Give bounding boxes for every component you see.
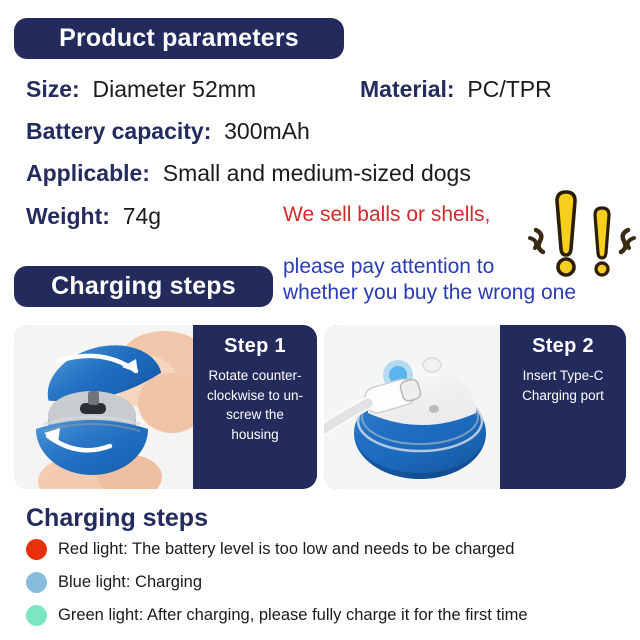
warning-blue-line-2: whether you buy the wrong one bbox=[283, 280, 576, 306]
spec-key-applicable: Applicable: bbox=[26, 160, 156, 186]
spec-value-battery-capacity: 300mAh bbox=[224, 118, 310, 144]
step-2-photo bbox=[324, 325, 500, 489]
warning-blue-line-1: please pay attention to bbox=[283, 254, 576, 280]
step-1-text: Step 1 Rotate counter-clockwise to un-sc… bbox=[193, 325, 317, 489]
spec-value-weight: 74g bbox=[123, 203, 161, 229]
step-card-2: Step 2 Insert Type-C Charging port bbox=[324, 325, 626, 489]
spec-value-size: Diameter 52mm bbox=[92, 76, 256, 102]
spec-key-weight: Weight: bbox=[26, 203, 116, 229]
spec-row-applicable: Applicable: Small and medium-sized dogs bbox=[26, 162, 471, 185]
legend-row-red-light: Red light: The battery level is too low … bbox=[26, 539, 514, 560]
charging-steps-heading: Charging steps bbox=[14, 266, 273, 307]
red-light-indicator-icon bbox=[26, 539, 47, 560]
spec-key-battery-capacity: Battery capacity: bbox=[26, 118, 218, 144]
spec-row-weight: Weight: 74g bbox=[26, 205, 161, 228]
spec-row-battery-capacity: Battery capacity: 300mAh bbox=[26, 120, 310, 143]
spec-key-size: Size: bbox=[26, 76, 86, 102]
legend-row-blue-light: Blue light: Charging bbox=[26, 572, 202, 593]
spec-value-applicable: Small and medium-sized dogs bbox=[163, 160, 471, 186]
spec-row-material: Material: PC/TPR bbox=[360, 78, 552, 101]
green-light-indicator-icon bbox=[26, 605, 47, 626]
step-1-photo bbox=[14, 325, 193, 489]
step-2-description: Insert Type-C Charging port bbox=[508, 366, 618, 405]
legend-heading: Charging steps bbox=[26, 504, 208, 533]
legend-label-green-light: Green light: After charging, please full… bbox=[58, 606, 528, 625]
warning-red-text: We sell balls or shells, bbox=[283, 203, 490, 227]
warning-blue-text: please pay attention to whether you buy … bbox=[283, 254, 576, 306]
product-parameters-heading: Product parameters bbox=[14, 18, 344, 59]
spec-key-material: Material: bbox=[360, 76, 461, 102]
legend-label-blue-light: Blue light: Charging bbox=[58, 573, 202, 592]
legend-label-red-light: Red light: The battery level is too low … bbox=[58, 540, 514, 559]
spec-value-material: PC/TPR bbox=[467, 76, 551, 102]
spec-row-size: Size: Diameter 52mm bbox=[26, 78, 256, 101]
step-1-title: Step 1 bbox=[201, 335, 309, 358]
step-card-1: Step 1 Rotate counter-clockwise to un-sc… bbox=[14, 325, 317, 489]
step-2-text: Step 2 Insert Type-C Charging port bbox=[500, 325, 626, 489]
step-2-title: Step 2 bbox=[508, 335, 618, 358]
step-1-description: Rotate counter-clockwise to un-screw the… bbox=[201, 366, 309, 444]
blue-light-indicator-icon bbox=[26, 572, 47, 593]
legend-row-green-light: Green light: After charging, please full… bbox=[26, 605, 528, 626]
